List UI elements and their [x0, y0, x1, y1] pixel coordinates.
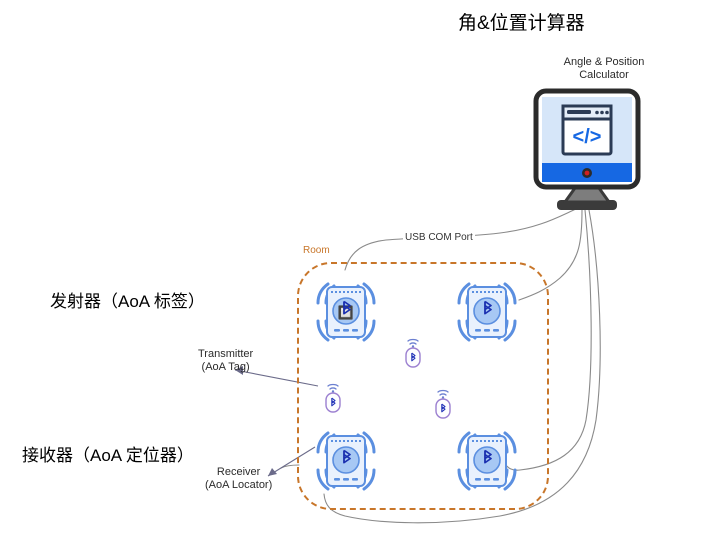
- transmitter-label-cn: 发射器（AoA 标签）: [50, 287, 205, 312]
- monitor-stand: [565, 188, 609, 202]
- code-glyph: </>: [573, 126, 602, 148]
- signal-wave-icon: [328, 385, 338, 390]
- diagram-canvas: Room 角&位置计算器 Angle & Position Calculator: [0, 0, 720, 536]
- room-label: Room: [303, 245, 330, 256]
- tag-right[interactable]: [430, 385, 456, 419]
- calculator-caption-line2: Calculator: [540, 69, 668, 82]
- tag-left[interactable]: [320, 379, 346, 413]
- receiver-callout-line1: Receiver: [205, 466, 272, 479]
- calculator-caption: Angle & Position Calculator: [540, 56, 668, 82]
- receiver-callout: Receiver (AoA Locator): [205, 466, 272, 492]
- receiver-label-cn: 接收器（AoA 定位器）: [22, 441, 194, 466]
- locator-bottom-right[interactable]: [450, 428, 524, 494]
- calculator-monitor[interactable]: </>: [533, 88, 641, 217]
- signal-wave-icon: [408, 340, 418, 345]
- transmitter-callout-line2: (AoA Tag): [198, 361, 253, 374]
- calculator-caption-line1: Angle & Position: [540, 56, 668, 69]
- tag-center[interactable]: [400, 334, 426, 368]
- signal-wave-icon: [438, 391, 448, 396]
- locator-top-right[interactable]: [450, 279, 524, 345]
- usb-com-port-label: USB COM Port: [403, 232, 475, 243]
- page-title: 角&位置计算器: [458, 8, 585, 35]
- transmitter-callout-line1: Transmitter: [198, 348, 253, 361]
- transmitter-callout: Transmitter (AoA Tag): [198, 348, 253, 374]
- locator-top-left[interactable]: 🔲: [309, 279, 383, 345]
- locator-bottom-left[interactable]: [309, 428, 383, 494]
- receiver-callout-line2: (AoA Locator): [205, 479, 272, 492]
